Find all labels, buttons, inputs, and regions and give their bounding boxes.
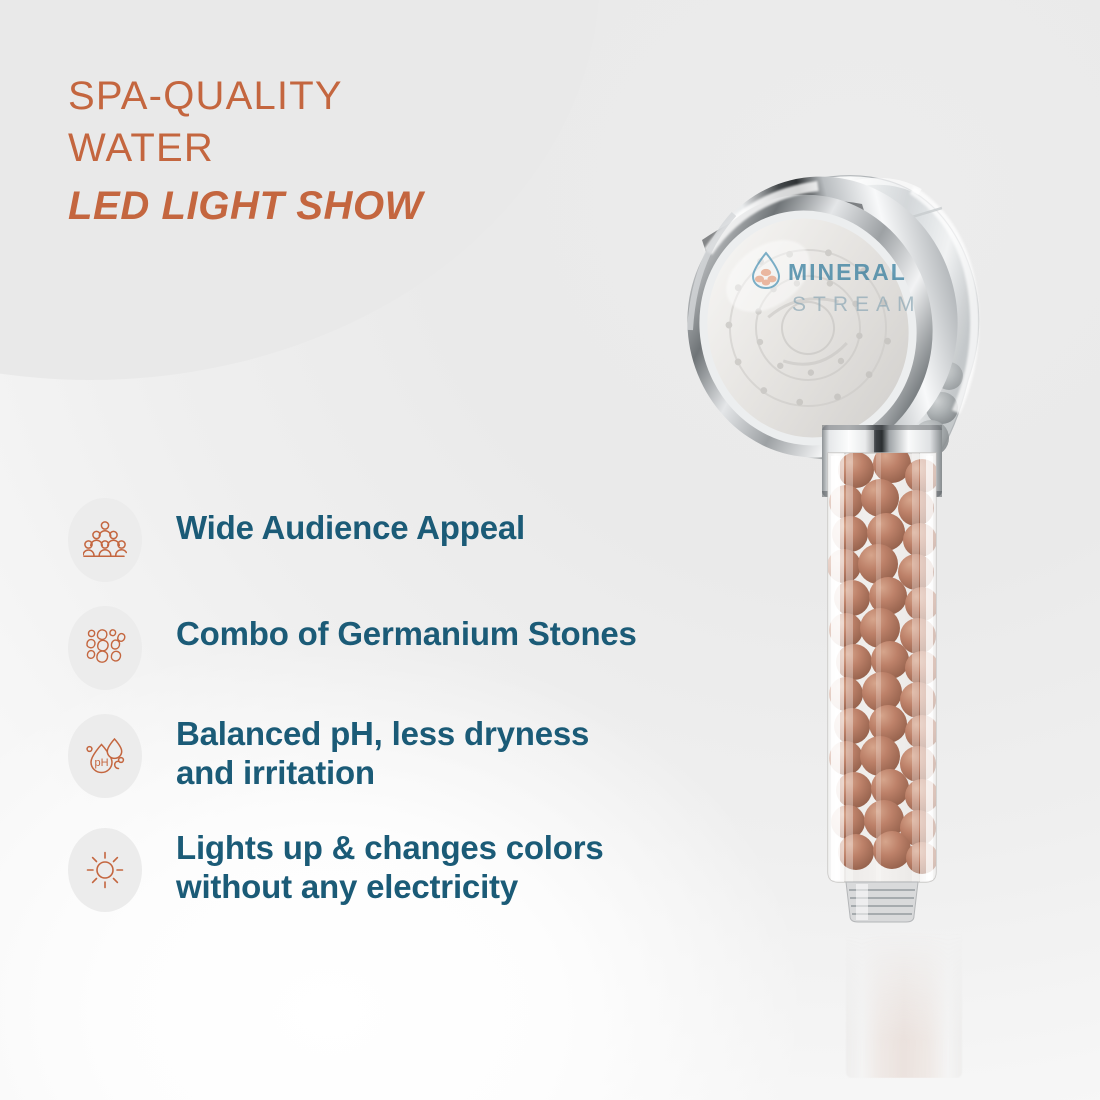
- headline-line-1: SPA-QUALITY: [68, 70, 588, 122]
- headline-block: SPA-QUALITY WATER LED LIGHT SHOW: [68, 70, 588, 234]
- headline-line-3: LED LIGHT SHOW: [68, 178, 588, 234]
- product-reflection: [838, 928, 970, 1078]
- product-image: MINERAL STREAM: [650, 130, 1050, 960]
- feature-label: Balanced pH, less dryness and irritation: [176, 712, 589, 792]
- feature-label: Lights up & changes colors without any e…: [176, 826, 604, 906]
- audience-crowd-icon: [68, 498, 142, 582]
- germanium-stones-icon: [68, 606, 142, 690]
- ph-water-drop-icon: pH: [68, 714, 142, 798]
- feature-label: Wide Audience Appeal: [176, 498, 525, 547]
- headline-line-2: WATER: [68, 122, 588, 174]
- sun-light-icon: [68, 828, 142, 912]
- feature-label: Combo of Germanium Stones: [176, 604, 637, 653]
- product-feature-banner: SPA-QUALITY WATER LED LIGHT SHOW: [0, 0, 1100, 1100]
- svg-text:pH: pH: [94, 757, 108, 769]
